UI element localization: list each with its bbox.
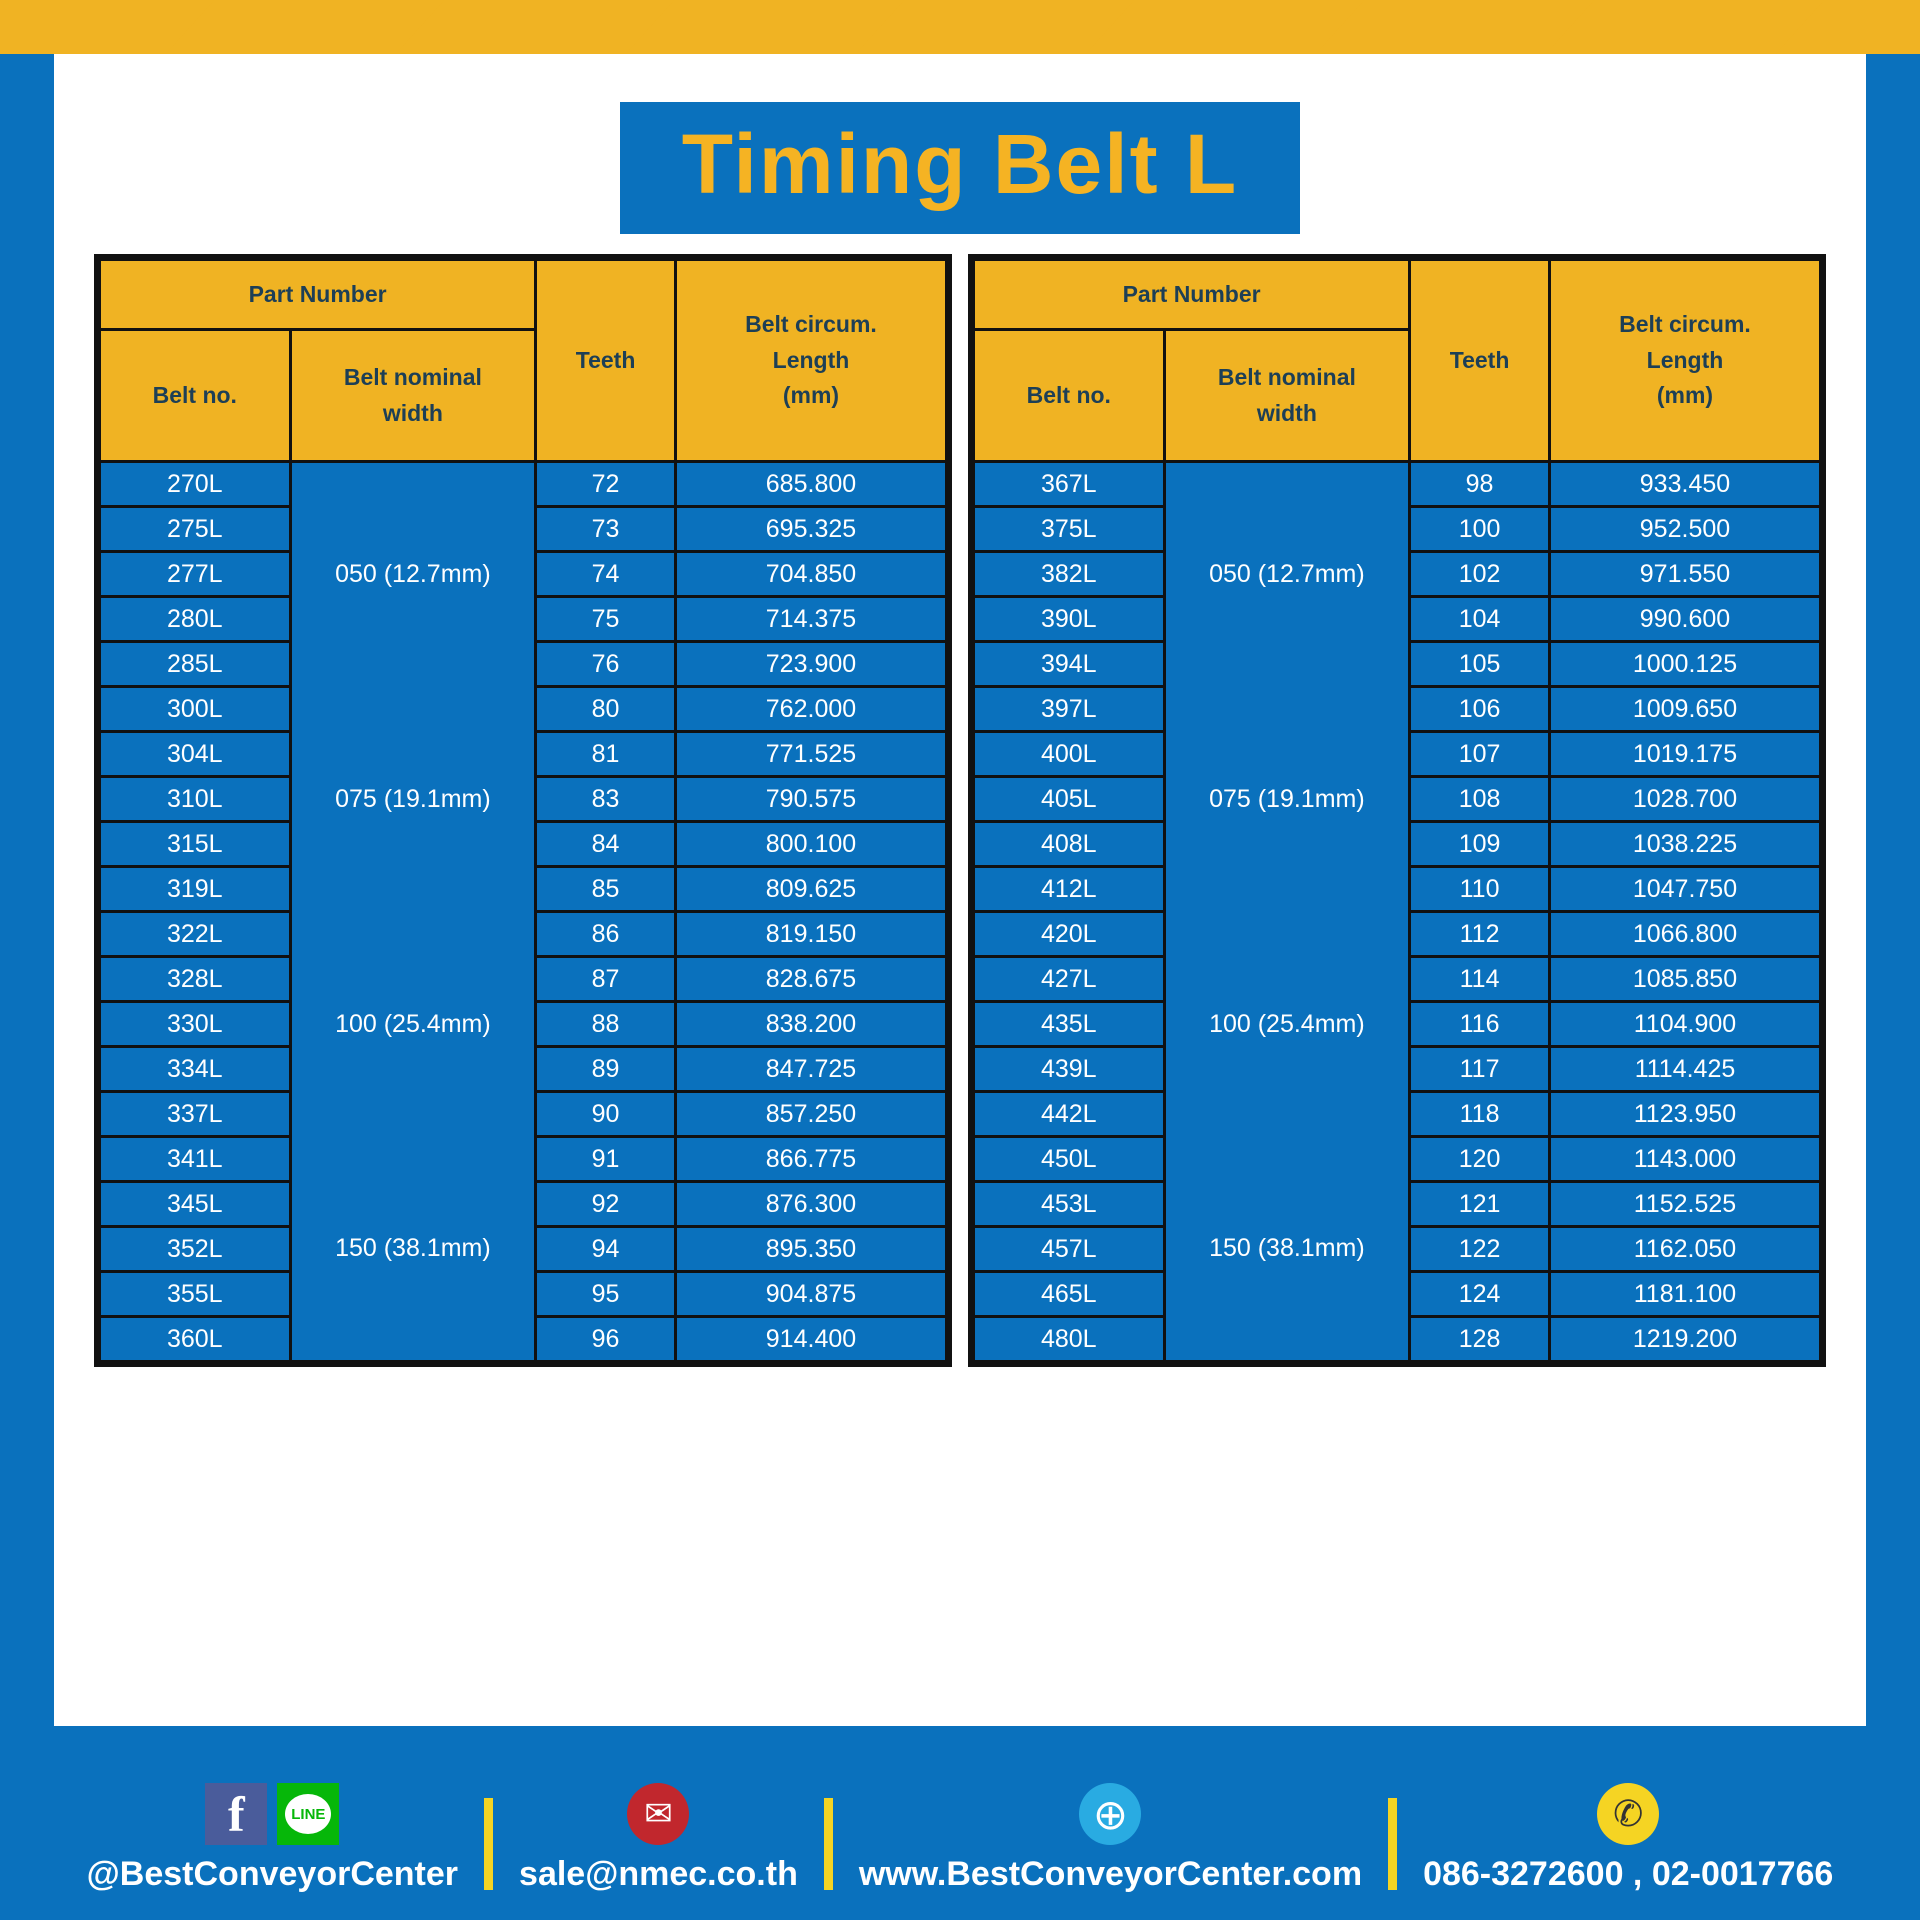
header-belt-circum-line2: Length (1555, 343, 1815, 379)
header-belt-circum-length: Belt circum. Length (mm) (1549, 260, 1820, 462)
cell-length: 895.350 (675, 1227, 946, 1272)
cell-belt-no: 355L (100, 1272, 291, 1317)
cell-length: 1162.050 (1549, 1227, 1820, 1272)
left-table-wrapper: Part Number Teeth Belt circum. Length (m… (94, 254, 952, 1367)
footer-website[interactable]: ⊕ www.BestConveyorCenter.com (859, 1783, 1362, 1894)
cell-teeth: 105 (1410, 642, 1550, 687)
cell-teeth: 73 (536, 507, 676, 552)
page-title-wrap: Timing Belt L (54, 54, 1866, 234)
right-table-head: Part Number Teeth Belt circum. Length (m… (974, 260, 1821, 462)
cell-length: 1114.425 (1549, 1047, 1820, 1092)
cell-length: 904.875 (675, 1272, 946, 1317)
header-belt-circum-line1: Belt circum. (681, 307, 941, 343)
cell-belt-no: 337L (100, 1092, 291, 1137)
cell-teeth: 94 (536, 1227, 676, 1272)
cell-length: 838.200 (675, 1002, 946, 1047)
cell-length: 819.150 (675, 912, 946, 957)
cell-belt-no: 442L (974, 1092, 1165, 1137)
cell-length: 1038.225 (1549, 822, 1820, 867)
header-belt-nominal-line2: width (1170, 396, 1405, 432)
cell-length: 1009.650 (1549, 687, 1820, 732)
cell-belt-no: 480L (974, 1317, 1165, 1362)
cell-teeth: 118 (1410, 1092, 1550, 1137)
header-belt-nominal-line1: Belt nominal (1170, 360, 1405, 396)
facebook-icon[interactable]: f (205, 1783, 267, 1845)
cell-teeth: 116 (1410, 1002, 1550, 1047)
cell-length: 876.300 (675, 1182, 946, 1227)
cell-teeth: 104 (1410, 597, 1550, 642)
cell-belt-no: 390L (974, 597, 1165, 642)
cell-belt-no: 270L (100, 462, 291, 507)
cell-belt-no: 427L (974, 957, 1165, 1002)
cell-teeth: 109 (1410, 822, 1550, 867)
cell-belt-no: 408L (974, 822, 1165, 867)
cell-belt-no: 435L (974, 1002, 1165, 1047)
table-row: 367L050 (12.7mm)98933.450 (974, 462, 1821, 507)
cell-belt-no: 328L (100, 957, 291, 1002)
cell-length: 847.725 (675, 1047, 946, 1092)
header-belt-circum-length: Belt circum. Length (mm) (675, 260, 946, 462)
header-teeth: Teeth (1410, 260, 1550, 462)
cell-belt-no: 345L (100, 1182, 291, 1227)
right-table-body: 367L050 (12.7mm)98933.450375L100952.5003… (974, 462, 1821, 1362)
cell-belt-no: 450L (974, 1137, 1165, 1182)
cell-teeth: 128 (1410, 1317, 1550, 1362)
cell-belt-nominal-width: 150 (38.1mm) (1164, 1137, 1410, 1362)
cell-teeth: 122 (1410, 1227, 1550, 1272)
cell-length: 866.775 (675, 1137, 946, 1182)
cell-length: 1066.800 (1549, 912, 1820, 957)
left-table-body: 270L050 (12.7mm)72685.800275L73695.32527… (100, 462, 947, 1362)
table-row: 450L150 (38.1mm)1201143.000 (974, 1137, 1821, 1182)
cell-teeth: 76 (536, 642, 676, 687)
cell-length: 1152.525 (1549, 1182, 1820, 1227)
cell-teeth: 89 (536, 1047, 676, 1092)
cell-teeth: 100 (1410, 507, 1550, 552)
cell-teeth: 83 (536, 777, 676, 822)
content-card: Timing Belt L Part Number Teeth Belt cir… (54, 54, 1866, 1726)
right-table: Part Number Teeth Belt circum. Length (m… (972, 258, 1822, 1363)
phone-icon[interactable]: ✆ (1597, 1783, 1659, 1845)
cell-belt-no: 420L (974, 912, 1165, 957)
cell-teeth: 98 (1410, 462, 1550, 507)
cell-length: 790.575 (675, 777, 946, 822)
cell-belt-no: 394L (974, 642, 1165, 687)
cell-belt-no: 352L (100, 1227, 291, 1272)
cell-teeth: 121 (1410, 1182, 1550, 1227)
header-belt-circum-line2: Length (681, 343, 941, 379)
cell-belt-nominal-width: 100 (25.4mm) (1164, 912, 1410, 1137)
header-belt-circum-line3: (mm) (1555, 378, 1815, 414)
header-teeth: Teeth (536, 260, 676, 462)
table-row: 270L050 (12.7mm)72685.800 (100, 462, 947, 507)
cell-belt-no: 397L (974, 687, 1165, 732)
header-belt-circum-line1: Belt circum. (1555, 307, 1815, 343)
cell-teeth: 80 (536, 687, 676, 732)
table-row: 300L075 (19.1mm)80762.000 (100, 687, 947, 732)
right-table-wrapper: Part Number Teeth Belt circum. Length (m… (968, 254, 1826, 1367)
cell-teeth: 107 (1410, 732, 1550, 777)
cell-belt-no: 367L (974, 462, 1165, 507)
cell-length: 771.525 (675, 732, 946, 777)
cell-teeth: 75 (536, 597, 676, 642)
cell-teeth: 124 (1410, 1272, 1550, 1317)
cell-length: 1181.100 (1549, 1272, 1820, 1317)
cell-teeth: 102 (1410, 552, 1550, 597)
footer-social-icons: f LINE (205, 1783, 339, 1845)
cell-length: 809.625 (675, 867, 946, 912)
cell-belt-nominal-width: 050 (12.7mm) (290, 462, 536, 687)
cell-belt-no: 322L (100, 912, 291, 957)
footer-divider-2 (824, 1798, 833, 1890)
cell-belt-no: 360L (100, 1317, 291, 1362)
cell-belt-no: 310L (100, 777, 291, 822)
cell-length: 714.375 (675, 597, 946, 642)
cell-length: 933.450 (1549, 462, 1820, 507)
cell-belt-no: 280L (100, 597, 291, 642)
cell-belt-no: 334L (100, 1047, 291, 1092)
footer-phone[interactable]: ✆ 086-3272600 , 02-0017766 (1423, 1783, 1833, 1894)
cell-teeth: 96 (536, 1317, 676, 1362)
cell-length: 1219.200 (1549, 1317, 1820, 1362)
cell-teeth: 110 (1410, 867, 1550, 912)
cell-teeth: 108 (1410, 777, 1550, 822)
cell-length: 914.400 (675, 1317, 946, 1362)
globe-icon[interactable]: ⊕ (1079, 1783, 1141, 1845)
cell-teeth: 95 (536, 1272, 676, 1317)
cell-teeth: 72 (536, 462, 676, 507)
left-table: Part Number Teeth Belt circum. Length (m… (98, 258, 948, 1363)
footer-email-label: sale@nmec.co.th (519, 1855, 798, 1894)
cell-teeth: 112 (1410, 912, 1550, 957)
line-bubble: LINE (285, 1794, 331, 1834)
cell-length: 1085.850 (1549, 957, 1820, 1002)
footer-social[interactable]: f LINE @BestConveyorCenter (87, 1783, 458, 1894)
cell-belt-no: 439L (974, 1047, 1165, 1092)
footer-inner: f LINE @BestConveyorCenter ✉ sale@nmec.c… (0, 1783, 1920, 1920)
cell-length: 695.325 (675, 507, 946, 552)
header-belt-nominal-width: Belt nominal width (290, 330, 536, 462)
cell-belt-no: 453L (974, 1182, 1165, 1227)
cell-length: 990.600 (1549, 597, 1820, 642)
cell-belt-no: 285L (100, 642, 291, 687)
cell-belt-no: 315L (100, 822, 291, 867)
cell-belt-no: 412L (974, 867, 1165, 912)
email-icon[interactable]: ✉ (627, 1783, 689, 1845)
table-row: 322L100 (25.4mm)86819.150 (100, 912, 947, 957)
cell-length: 800.100 (675, 822, 946, 867)
header-belt-nominal-width: Belt nominal width (1164, 330, 1410, 462)
cell-belt-no: 457L (974, 1227, 1165, 1272)
cell-belt-no: 382L (974, 552, 1165, 597)
header-row-1: Part Number Teeth Belt circum. Length (m… (974, 260, 1821, 330)
cell-belt-no: 319L (100, 867, 291, 912)
header-belt-nominal-line2: width (296, 396, 531, 432)
cell-belt-nominal-width: 150 (38.1mm) (290, 1137, 536, 1362)
cell-length: 762.000 (675, 687, 946, 732)
cell-length: 1047.750 (1549, 867, 1820, 912)
cell-teeth: 84 (536, 822, 676, 867)
top-decoration-stripes (0, 0, 1920, 54)
footer-divider-1 (484, 1798, 493, 1890)
cell-length: 704.850 (675, 552, 946, 597)
cell-belt-nominal-width: 075 (19.1mm) (290, 687, 536, 912)
cell-teeth: 85 (536, 867, 676, 912)
header-belt-nominal-line1: Belt nominal (296, 360, 531, 396)
cell-belt-no: 330L (100, 1002, 291, 1047)
header-belt-circum-line3: (mm) (681, 378, 941, 414)
footer-email[interactable]: ✉ sale@nmec.co.th (519, 1783, 798, 1894)
cell-belt-no: 375L (974, 507, 1165, 552)
cell-length: 1104.900 (1549, 1002, 1820, 1047)
cell-length: 1123.950 (1549, 1092, 1820, 1137)
cell-length: 971.550 (1549, 552, 1820, 597)
cell-length: 952.500 (1549, 507, 1820, 552)
cell-teeth: 86 (536, 912, 676, 957)
page-title: Timing Belt L (682, 117, 1238, 211)
cell-teeth: 92 (536, 1182, 676, 1227)
cell-belt-no: 341L (100, 1137, 291, 1182)
cell-belt-no: 300L (100, 687, 291, 732)
cell-teeth: 74 (536, 552, 676, 597)
cell-teeth: 91 (536, 1137, 676, 1182)
cell-belt-no: 400L (974, 732, 1165, 777)
cell-length: 723.900 (675, 642, 946, 687)
cell-teeth: 90 (536, 1092, 676, 1137)
footer-website-label: www.BestConveyorCenter.com (859, 1855, 1362, 1894)
cell-length: 828.675 (675, 957, 946, 1002)
cell-belt-no: 465L (974, 1272, 1165, 1317)
line-icon[interactable]: LINE (277, 1783, 339, 1845)
header-part-number: Part Number (974, 260, 1410, 330)
header-part-number: Part Number (100, 260, 536, 330)
cell-belt-nominal-width: 050 (12.7mm) (1164, 462, 1410, 687)
cell-teeth: 88 (536, 1002, 676, 1047)
cell-teeth: 81 (536, 732, 676, 777)
footer-phone-label: 086-3272600 , 02-0017766 (1423, 1855, 1833, 1894)
cell-teeth: 114 (1410, 957, 1550, 1002)
footer-social-label: @BestConveyorCenter (87, 1855, 458, 1894)
cell-belt-no: 275L (100, 507, 291, 552)
cell-teeth: 87 (536, 957, 676, 1002)
page-title-box: Timing Belt L (620, 102, 1300, 234)
cell-length: 857.250 (675, 1092, 946, 1137)
table-row: 397L075 (19.1mm)1061009.650 (974, 687, 1821, 732)
cell-belt-no: 277L (100, 552, 291, 597)
cell-belt-nominal-width: 075 (19.1mm) (1164, 687, 1410, 912)
cell-length: 1000.125 (1549, 642, 1820, 687)
table-row: 420L100 (25.4mm)1121066.800 (974, 912, 1821, 957)
footer-bar: f LINE @BestConveyorCenter ✉ sale@nmec.c… (0, 1726, 1920, 1920)
cell-teeth: 117 (1410, 1047, 1550, 1092)
cell-length: 1143.000 (1549, 1137, 1820, 1182)
cell-length: 1028.700 (1549, 777, 1820, 822)
cell-length: 1019.175 (1549, 732, 1820, 777)
footer-divider-3 (1388, 1798, 1397, 1890)
left-table-head: Part Number Teeth Belt circum. Length (m… (100, 260, 947, 462)
header-belt-no: Belt no. (974, 330, 1165, 462)
header-belt-no: Belt no. (100, 330, 291, 462)
cell-length: 685.800 (675, 462, 946, 507)
header-row-1: Part Number Teeth Belt circum. Length (m… (100, 260, 947, 330)
tables-container: Part Number Teeth Belt circum. Length (m… (94, 254, 1826, 1367)
cell-teeth: 106 (1410, 687, 1550, 732)
cell-teeth: 120 (1410, 1137, 1550, 1182)
cell-belt-no: 405L (974, 777, 1165, 822)
table-row: 341L150 (38.1mm)91866.775 (100, 1137, 947, 1182)
cell-belt-nominal-width: 100 (25.4mm) (290, 912, 536, 1137)
cell-belt-no: 304L (100, 732, 291, 777)
